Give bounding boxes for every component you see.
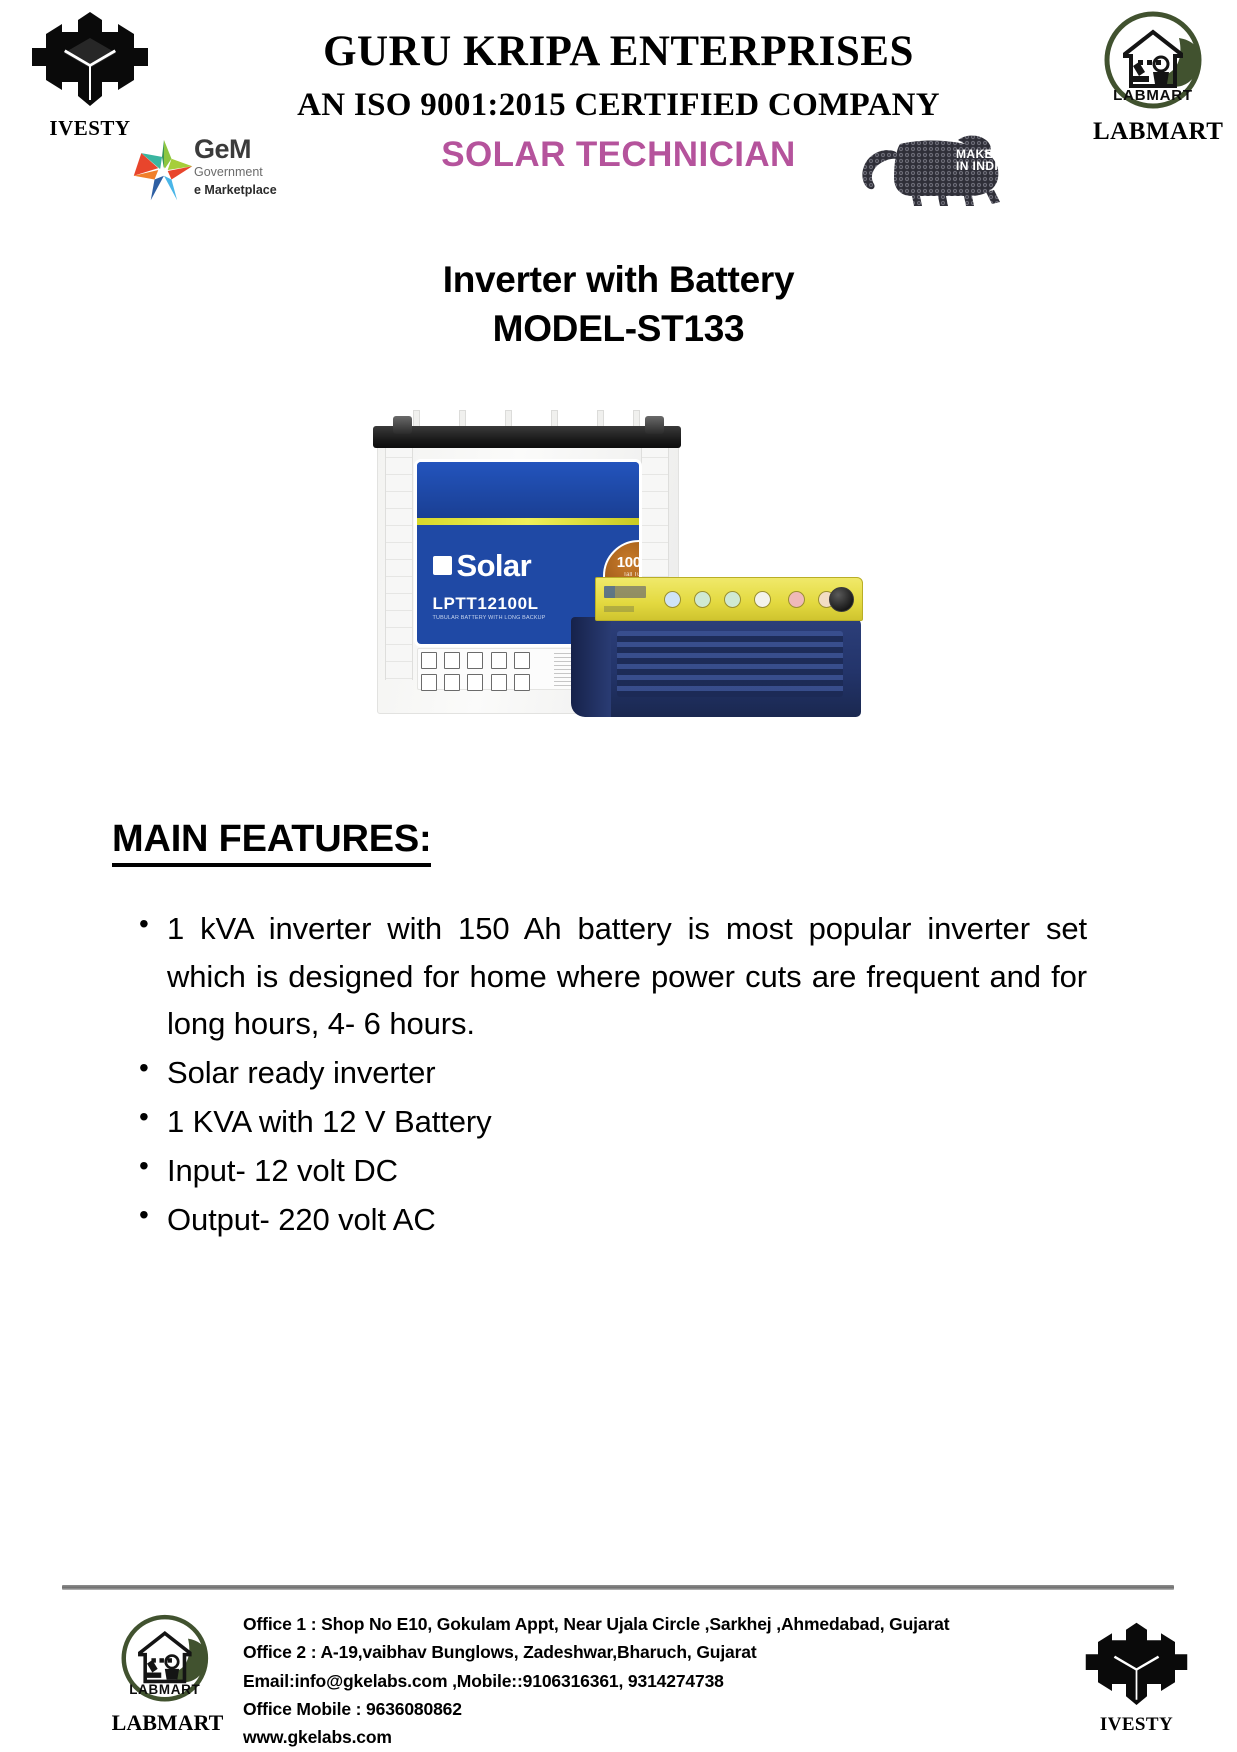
product-title-line-2: MODEL-ST133 bbox=[0, 305, 1237, 354]
labmart-house-microscope-icon: LABMART bbox=[110, 1610, 225, 1710]
header-titles: GURU KRIPA ENTERPRISES AN ISO 9001:2015 … bbox=[0, 0, 1237, 174]
footer-ivesty-logo: IVESTY bbox=[1084, 1614, 1189, 1739]
inverter-led-indicator bbox=[664, 591, 681, 608]
spec-icon bbox=[444, 674, 460, 691]
spec-icon bbox=[491, 674, 507, 691]
footer-contact-details: Office 1 : Shop No E10, Gokulam Appt, Ne… bbox=[243, 1610, 943, 1752]
battery-top-cover bbox=[373, 426, 681, 448]
footer-labmart-logo: LABMART LABMART bbox=[110, 1610, 225, 1742]
battery-terminal-negative bbox=[645, 416, 664, 434]
inverter-product-illustration bbox=[571, 577, 861, 717]
feature-item: Output- 220 volt AC bbox=[135, 1196, 1087, 1243]
inverter-power-knob[interactable] bbox=[829, 587, 854, 612]
inverter-led-indicator bbox=[724, 591, 741, 608]
footer-office-mobile: Office Mobile : 9636080862 bbox=[243, 1695, 943, 1723]
feature-item: Input- 12 volt DC bbox=[135, 1147, 1087, 1194]
spec-icon bbox=[467, 674, 483, 691]
footer-office-1: Office 1 : Shop No E10, Gokulam Appt, Ne… bbox=[243, 1610, 943, 1638]
inverter-led-indicator bbox=[754, 591, 771, 608]
battery-terminal-positive bbox=[393, 416, 412, 434]
spec-icon bbox=[514, 652, 530, 669]
battery-label-yellow-stripe bbox=[417, 518, 639, 525]
footer-office-2: Office 2 : A-19,vaibhav Bunglows, Zadesh… bbox=[243, 1638, 943, 1666]
battery-brand-text: Solar bbox=[433, 548, 532, 584]
spec-icon bbox=[421, 674, 437, 691]
feature-item: 1 kVA inverter with 150 Ah battery is mo… bbox=[135, 905, 1087, 1046]
battery-model-text: LPTT12100L bbox=[433, 594, 539, 614]
svg-text:LABMART: LABMART bbox=[129, 1682, 200, 1697]
battery-badge-capacity: 100Ah bbox=[605, 554, 639, 571]
inverter-side-face bbox=[571, 617, 611, 717]
footer-email-mobile: Email:info@gkelabs.com ,Mobile::91063163… bbox=[243, 1667, 943, 1695]
feature-item: 1 KVA with 12 V Battery bbox=[135, 1098, 1087, 1145]
spec-icon bbox=[514, 674, 530, 691]
footer-divider bbox=[62, 1585, 1174, 1590]
company-name: GURU KRIPA ENTERPRISES bbox=[0, 28, 1237, 75]
footer-labmart-label: LABMART bbox=[110, 1710, 225, 1736]
ivesty-cube-icon bbox=[1084, 1614, 1189, 1712]
inverter-brand-mark bbox=[604, 586, 646, 598]
battery-label-header-band bbox=[417, 462, 639, 518]
footer-website[interactable]: www.gkelabs.com bbox=[243, 1723, 943, 1751]
feature-item: Solar ready inverter bbox=[135, 1049, 1087, 1096]
spec-icon bbox=[421, 652, 437, 669]
gem-sub-marketplace: e Marketplace bbox=[194, 183, 284, 199]
inverter-body bbox=[577, 617, 861, 717]
product-image: Solar LPTT12100L TUBULAR BATTERY WITH LO… bbox=[359, 372, 879, 767]
page-header: IVESTY GeM Government e Marketplace bbox=[0, 0, 1237, 228]
product-title: Inverter with Battery MODEL-ST133 bbox=[0, 256, 1237, 354]
inverter-led-indicator bbox=[694, 591, 711, 608]
main-features-heading: MAIN FEATURES: bbox=[112, 819, 431, 868]
inverter-model-mark bbox=[604, 606, 634, 612]
battery-model-subtext: TUBULAR BATTERY WITH LONG BACKUP bbox=[433, 615, 546, 621]
inverter-led-indicator bbox=[788, 591, 805, 608]
iso-certification-line: AN ISO 9001:2015 CERTIFIED COMPANY bbox=[0, 87, 1237, 123]
inverter-vent-ridges bbox=[617, 631, 843, 697]
department-line: SOLAR TECHNICIAN bbox=[0, 136, 1237, 175]
product-title-line-1: Inverter with Battery bbox=[0, 256, 1237, 305]
spec-icon bbox=[467, 652, 483, 669]
page-footer: LABMART LABMART Office 1 : Shop No E10, … bbox=[0, 1600, 1237, 1750]
features-list: 1 kVA inverter with 150 Ah battery is mo… bbox=[135, 905, 1087, 1243]
battery-brand-square-icon bbox=[433, 556, 452, 575]
spec-icon bbox=[491, 652, 507, 669]
spec-icon bbox=[444, 652, 460, 669]
inverter-control-panel bbox=[595, 577, 863, 621]
main-features-section: MAIN FEATURES: 1 kVA inverter with 150 A… bbox=[0, 767, 1237, 1244]
footer-ivesty-label: IVESTY bbox=[1084, 1714, 1189, 1736]
battery-brand-name: Solar bbox=[457, 548, 532, 583]
battery-rib-left bbox=[385, 440, 413, 680]
